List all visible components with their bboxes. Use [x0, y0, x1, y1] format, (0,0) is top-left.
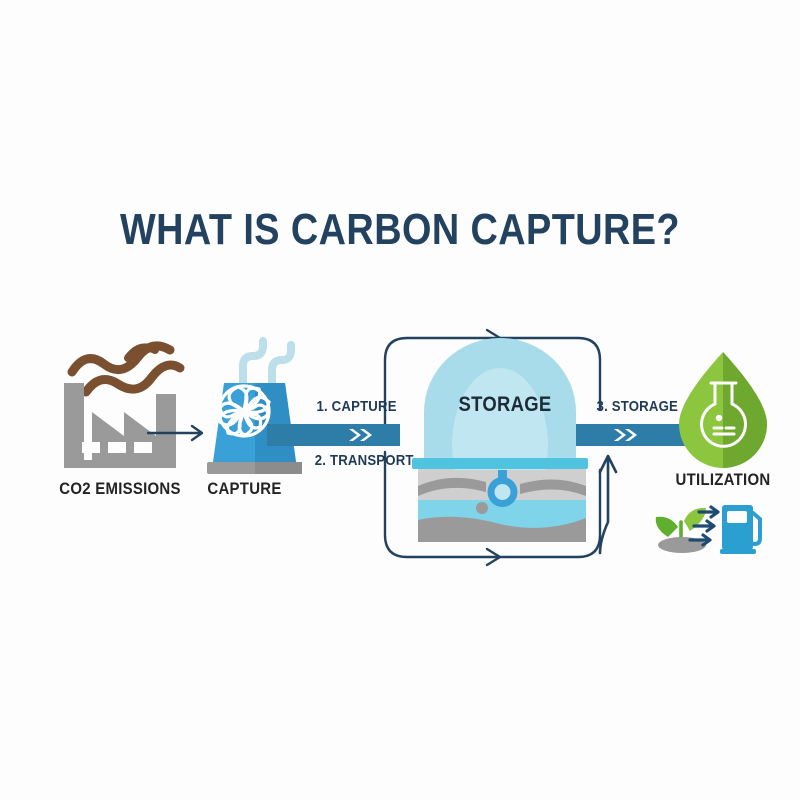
- utilization-outputs: [656, 505, 760, 554]
- seedling-icon: [656, 508, 706, 553]
- underground-storage-icon: [418, 458, 586, 542]
- storage-dome-label: STORAGE: [439, 393, 571, 417]
- leaf-flask-icon: [679, 352, 767, 468]
- return-arrow-up: [600, 456, 616, 553]
- step-label-storage: 3. STORAGE: [597, 398, 678, 415]
- diagram-illustration: [0, 0, 800, 800]
- step-label-transport: 2. TRANSPORT: [315, 452, 414, 469]
- fuel-pump-icon: [720, 505, 760, 554]
- step-label-capture: 1. CAPTURE: [316, 398, 396, 415]
- transport-pipe-right: [576, 424, 686, 446]
- factory-icon: [64, 383, 176, 468]
- transport-pipe-left: [267, 424, 400, 446]
- steam-icon: [243, 341, 291, 383]
- stage-label-utilization: UTILIZATION: [644, 470, 800, 490]
- infographic-canvas: WHAT IS CARBON CAPTURE?: [0, 0, 800, 800]
- stage-label-capture: CAPTURE: [181, 479, 309, 499]
- smoke-icon: [72, 346, 180, 392]
